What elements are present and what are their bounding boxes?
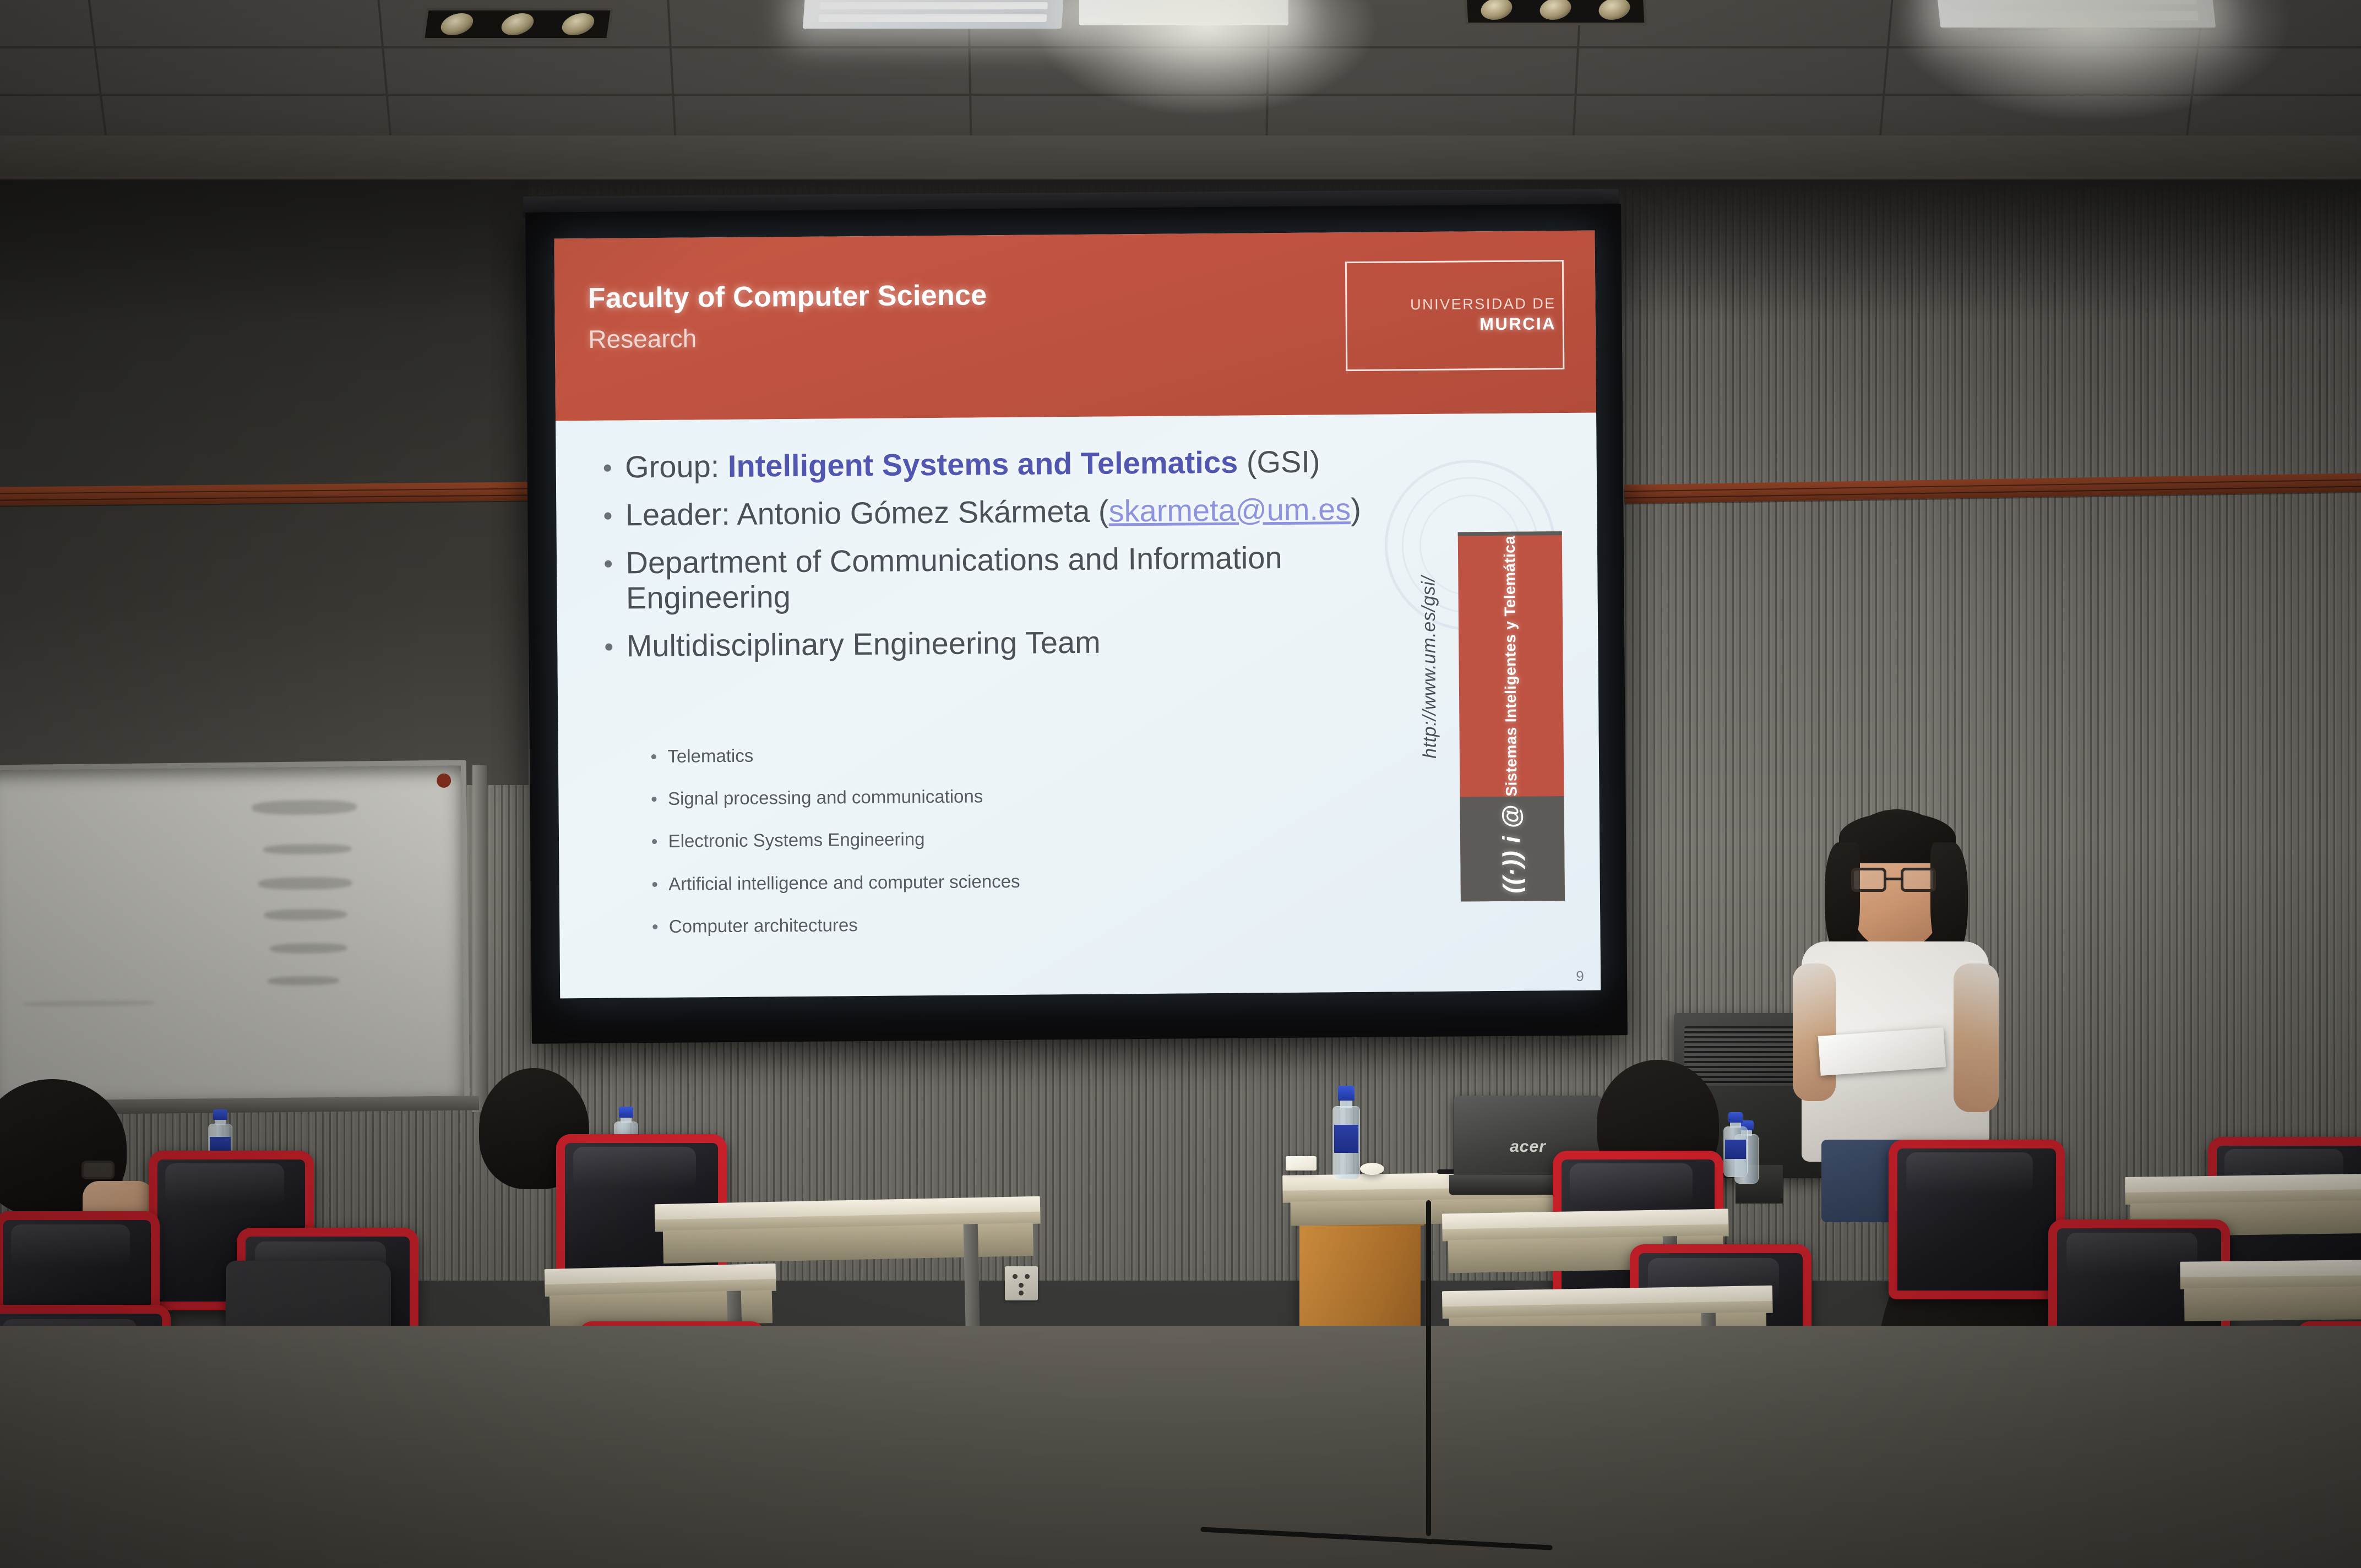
bullet-item-group: Group: Intelligent Systems and Telematic… bbox=[600, 443, 1391, 485]
slide-bullet-list: Group: Intelligent Systems and Telematic… bbox=[600, 443, 1392, 677]
ceiling-fluorescent-panel-left bbox=[803, 0, 1064, 29]
gsi-logo-icon: ((·)) i @ bbox=[1460, 796, 1564, 902]
presenter-arm-left bbox=[1793, 963, 1836, 1101]
slide-body: Group: Intelligent Systems and Telematic… bbox=[556, 413, 1601, 999]
sub-bullet-computer-architectures: Computer architectures bbox=[649, 911, 1357, 937]
floor bbox=[0, 1326, 2361, 1568]
university-logo-line1: UNIVERSIDAD DE bbox=[1410, 295, 1556, 314]
ceiling-spotlight-cluster-right bbox=[1464, 0, 1647, 25]
sub-bullet-artificial-intelligence: Artificial intelligence and computer sci… bbox=[649, 869, 1356, 894]
slide-sub-bullet-list: Telematics Signal processing and communi… bbox=[648, 741, 1357, 960]
presenter-arm-right bbox=[1954, 963, 1999, 1112]
gsi-website-url: http://www.um.es/gsi/ bbox=[1418, 576, 1441, 759]
whiteboard-side-arm bbox=[472, 765, 487, 1112]
gsi-group-badge: Sistemas Inteligentes y Telemática ((·))… bbox=[1457, 531, 1564, 902]
bullet-leader-suffix: ) bbox=[1351, 492, 1361, 526]
sub-bullet-signal-processing: Signal processing and communications bbox=[648, 783, 1356, 809]
bullet-item-team: Multidisciplinary Engineering Team bbox=[601, 623, 1392, 665]
chair-right-r1-b[interactable] bbox=[1889, 1140, 2065, 1299]
ceiling-fluorescent-panel-right bbox=[1936, 0, 2216, 28]
university-logo: UNIVERSIDAD DE MURCIA bbox=[1345, 260, 1564, 371]
bullet-item-department: Department of Communications and Informa… bbox=[600, 540, 1304, 617]
lecture-hall-scene: Faculty of Computer Science Research UNI… bbox=[0, 0, 2361, 1568]
ceiling-fluorescent-panel-center bbox=[1079, 0, 1288, 25]
slide-title: Faculty of Computer Science bbox=[588, 279, 987, 315]
bullet-group-strong: Intelligent Systems and Telematics bbox=[728, 444, 1238, 483]
whiteboard bbox=[0, 760, 470, 1106]
presenter-glasses-left-lens bbox=[1851, 868, 1886, 892]
round-object-podium bbox=[1360, 1163, 1384, 1175]
bullet-group-suffix: (GSI) bbox=[1238, 444, 1320, 479]
sub-bullet-electronic-systems: Electronic Systems Engineering bbox=[648, 826, 1356, 851]
desk-left-r1 bbox=[655, 1196, 1041, 1271]
bullet-leader-prefix: Leader: Antonio Gómez Skármeta ( bbox=[625, 493, 1109, 532]
gsi-badge-label: Sistemas Inteligentes y Telemática bbox=[1499, 536, 1522, 797]
bullet-group-prefix: Group: bbox=[625, 449, 728, 484]
bullet-leader-email-link[interactable]: skarmeta@um.es bbox=[1108, 492, 1351, 528]
presentation-slide: Faculty of Computer Science Research UNI… bbox=[554, 231, 1601, 999]
presenter-hair-left bbox=[1825, 842, 1860, 958]
wall-power-outlet[interactable] bbox=[1005, 1266, 1038, 1300]
gsi-logo-glyph: ((·)) i @ bbox=[1498, 804, 1526, 894]
paper-stack-podium bbox=[1286, 1156, 1316, 1170]
water-bottle-podium-2 bbox=[1332, 1086, 1360, 1179]
slide-subtitle: Research bbox=[588, 323, 697, 354]
ceiling-spotlight-cluster bbox=[422, 8, 613, 41]
presenter-glasses-right-lens bbox=[1901, 868, 1936, 892]
student-front-left-glasses bbox=[81, 1161, 115, 1179]
podium-cable bbox=[1426, 1200, 1431, 1536]
slide-page-number: 9 bbox=[1576, 967, 1584, 984]
whiteboard-magnet bbox=[437, 774, 451, 788]
slide-header: Faculty of Computer Science Research UNI… bbox=[554, 231, 1596, 421]
presenter-glasses-bridge bbox=[1885, 878, 1903, 880]
sub-bullet-telematics: Telematics bbox=[648, 741, 1355, 766]
university-logo-line2: MURCIA bbox=[1479, 313, 1556, 335]
bullet-item-leader: Leader: Antonio Gómez Skármeta (skarmeta… bbox=[600, 491, 1391, 533]
projection-screen: Faculty of Computer Science Research UNI… bbox=[525, 204, 1628, 1044]
